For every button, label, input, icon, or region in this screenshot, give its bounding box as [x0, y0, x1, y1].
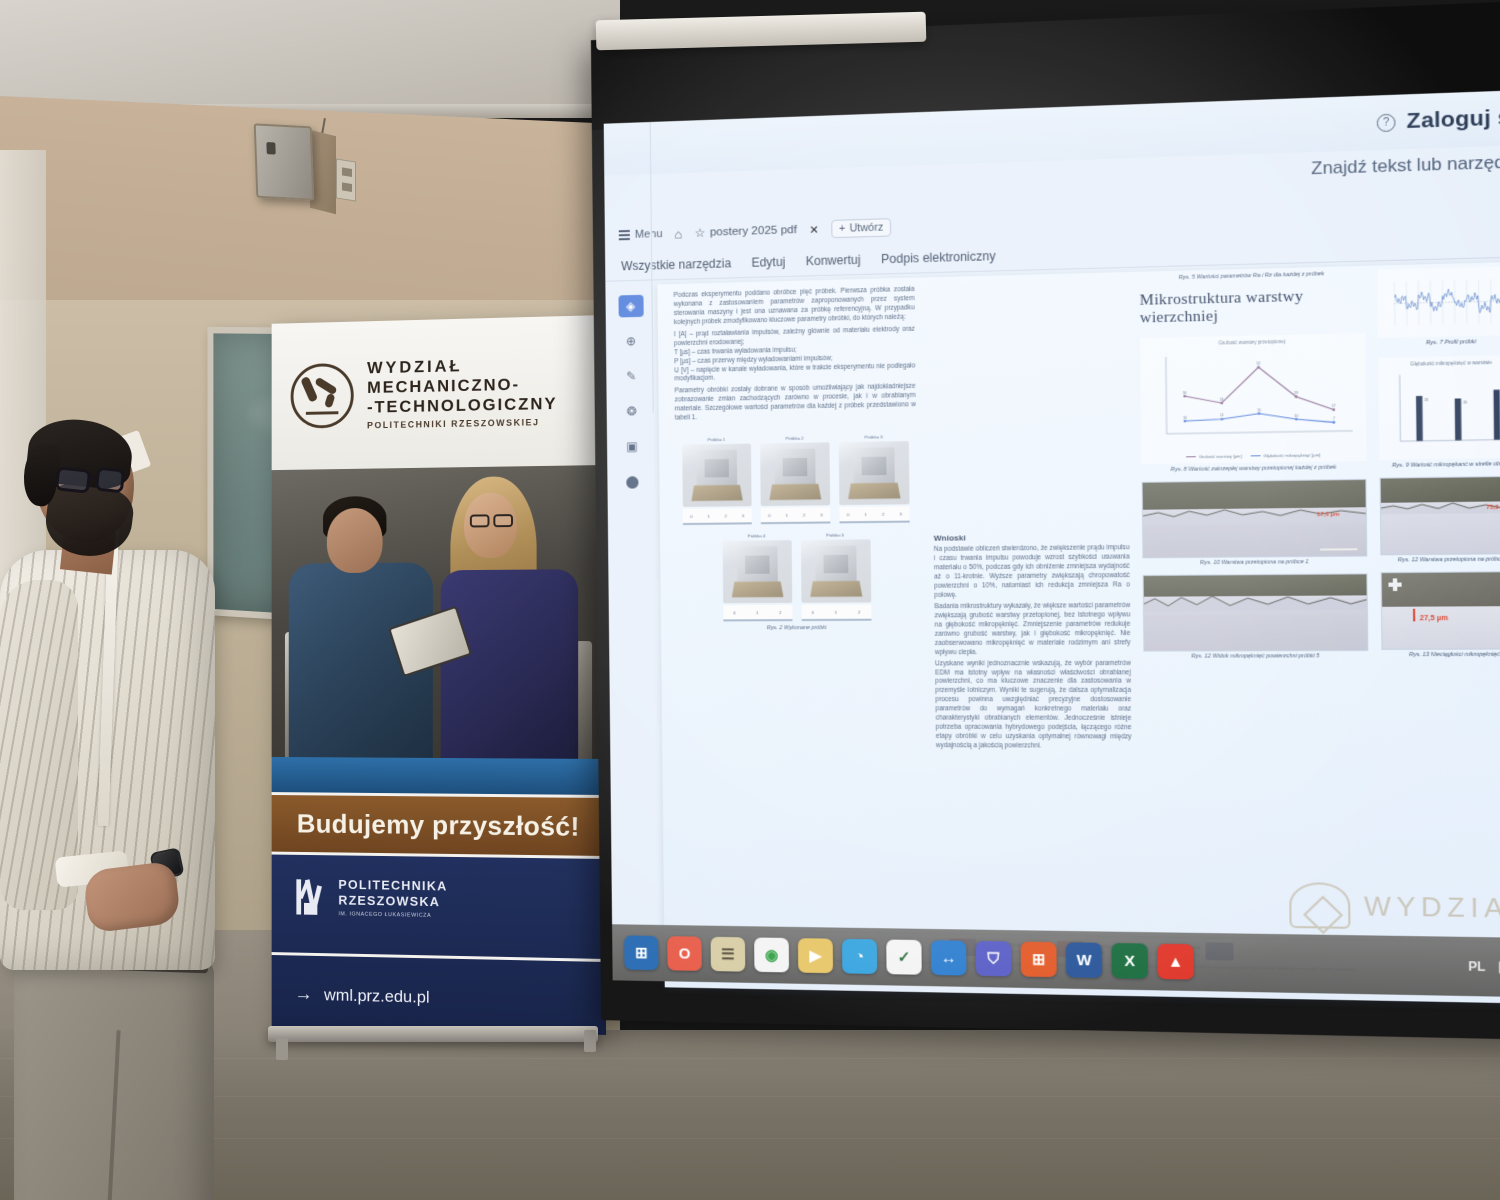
- sample-photo: [760, 442, 830, 506]
- beard: [42, 481, 136, 561]
- measurement-label: 27,5 µm: [1420, 615, 1449, 623]
- sample-item: Próbka 2 0123: [760, 435, 830, 524]
- help-circle-icon[interactable]: ?: [1377, 113, 1396, 132]
- svg-text:11: 11: [1220, 414, 1224, 418]
- faculty-watermark: WYDZIAŁ: [1289, 882, 1500, 931]
- sample-ruler: 012: [801, 605, 871, 622]
- svg-text:10: 10: [1183, 415, 1187, 419]
- conclusion-3: Uzyskane wyniki jednoznacznie wskazują, …: [935, 659, 1132, 751]
- chart-profile: [1377, 266, 1500, 338]
- banner-title-line3: -TECHNOLOGICZNY: [367, 394, 557, 417]
- sample-photo: [722, 540, 792, 603]
- banner-base-pole: [268, 1026, 598, 1042]
- notes-icon[interactable]: ☰: [711, 937, 746, 972]
- poster-intro-2: Parametry obróbki zostały dobrane w spos…: [675, 383, 916, 424]
- language-indicator[interactable]: PL: [1468, 959, 1485, 974]
- chrome-icon[interactable]: ◉: [754, 937, 789, 972]
- tool-convert[interactable]: Konwertuj: [806, 252, 861, 268]
- svg-text:24: 24: [1220, 397, 1224, 401]
- document-tab[interactable]: ☆ postery 2025 pdf: [694, 223, 797, 240]
- svg-text:28: 28: [1294, 391, 1298, 395]
- chart-microcracks: Głębokość mikropęknięć w warstwie 282631: [1378, 355, 1500, 460]
- legend-label: Grubość warstwy [µm]: [1199, 453, 1242, 459]
- hamburger-icon: [619, 230, 630, 239]
- create-label: Utwórz: [849, 221, 883, 234]
- figure-caption-melt: Rys. 8 Wartość zakrzepłej warstwy przeto…: [1141, 464, 1366, 473]
- opera-icon[interactable]: O: [667, 936, 702, 971]
- micrograph-4: 27,5 µm: [1381, 571, 1500, 650]
- office-icon[interactable]: ⊞: [1021, 942, 1057, 978]
- sample-photo: [800, 539, 870, 602]
- prz-logo: POLITECHNIKA RZESZOWSKA IM. IGNACEGO ŁUK…: [294, 876, 582, 922]
- photo-man-head: [327, 508, 383, 573]
- edge-icon[interactable]: ◔: [842, 939, 877, 974]
- figure-caption-micro-4: Rys. 13 Nieciągłości mikropęknięć: [1382, 652, 1500, 659]
- prz-mark-icon: [294, 877, 326, 917]
- robot-arm-icon: [291, 363, 354, 429]
- teams-icon[interactable]: ⛉: [976, 941, 1012, 976]
- comment-icon[interactable]: ❂: [619, 400, 644, 422]
- sample-photo-grid: Próbka 1 0123 Próbka 2 0123: [675, 434, 918, 622]
- sample-label: Próbka 5: [800, 532, 870, 538]
- micrograph-2: 75,9 µm: [1380, 476, 1500, 556]
- banner-title-line4: POLITECHNIKI RZESZOWSKIEJ: [367, 417, 557, 431]
- chart-legend: Grubość warstwy [µm] Głębokość mikropękn…: [1146, 452, 1362, 460]
- banner-photo: [272, 465, 606, 795]
- teamviewer-icon[interactable]: ↔: [931, 940, 967, 975]
- zoom-icon[interactable]: ⊕: [618, 330, 643, 353]
- banner-cta: Budujemy przyszłość!: [272, 792, 606, 859]
- conclusion-2: Badania mikrostruktury wykazały, że więk…: [934, 602, 1130, 658]
- tool-all-tools[interactable]: Wszystkie narzędzia: [621, 256, 731, 273]
- sample-ruler: 012: [723, 605, 792, 622]
- watermark-text: WYDZIAŁ: [1364, 890, 1500, 925]
- create-button[interactable]: + Utwórz: [831, 218, 892, 238]
- acrobat-sidebar: ◈ ⊕ ✎ ❂ ▣ ⬤: [613, 289, 650, 570]
- sample-item: Próbka 4 012: [722, 533, 792, 621]
- tab-title: postery 2025 pdf: [710, 224, 797, 239]
- chart-svg-line: 3024522817101115107: [1144, 345, 1361, 453]
- login-button[interactable]: Zaloguj się: [1406, 105, 1500, 135]
- rollup-banner: WYDZIAŁ MECHANICZNO- -TECHNOLOGICZNY POL…: [272, 315, 606, 1035]
- svg-text:7: 7: [1333, 417, 1335, 421]
- lecture-room-scene: WYDZIAŁ MECHANICZNO- -TECHNOLOGICZNY POL…: [0, 0, 1500, 1200]
- text-box-icon[interactable]: ▣: [619, 435, 644, 457]
- legend-item: Grubość warstwy [µm]: [1186, 453, 1242, 459]
- star-icon[interactable]: ☆: [694, 226, 705, 240]
- faculty-mark-icon: [1289, 882, 1351, 929]
- photo-workbench: [272, 757, 606, 795]
- tool-esign[interactable]: Podpis elektroniczny: [881, 248, 996, 265]
- sample-ruler: 0123: [761, 507, 831, 524]
- crosshair-cursor-icon: [1388, 579, 1401, 592]
- power-outlet-icon: [336, 158, 356, 201]
- banner-url-text: wml.prz.edu.pl: [324, 985, 430, 1007]
- chart-title: Głębokość mikropęknięć w warstwie: [1383, 359, 1500, 367]
- media-player-icon[interactable]: ▶: [798, 938, 833, 973]
- sample-label: Próbka 1: [682, 437, 751, 443]
- projected-desktop: ? Zaloguj się Znajdź tekst lub narzędzia…: [604, 89, 1500, 997]
- banner-footer: POLITECHNIKA RZESZOWSKA IM. IGNACEGO ŁUK…: [272, 855, 606, 1035]
- photo-woman-glasses: [493, 514, 513, 527]
- prz-line2: RZESZOWSKA: [338, 893, 447, 911]
- poster-intro: Podczas eksperymentu poddano obróbce pię…: [674, 286, 915, 328]
- figure-caption-micro-2: Rys. 12 Warstwa przetopiona na próbce 5: [1380, 556, 1500, 564]
- measurement-label: 17,6 µm: [1317, 512, 1340, 519]
- svg-text:10: 10: [1294, 413, 1298, 417]
- search-input[interactable]: Znajdź tekst lub narzędzia: [1311, 151, 1500, 179]
- sample-label: Próbka 2: [760, 435, 829, 441]
- tasks-icon[interactable]: ✓: [886, 940, 922, 975]
- plus-icon: +: [839, 223, 845, 235]
- svg-text:15: 15: [1257, 408, 1261, 412]
- excel-icon[interactable]: X: [1111, 943, 1148, 979]
- close-tab-icon[interactable]: ✕: [809, 223, 819, 236]
- sample-item: Próbka 3 0123: [839, 434, 910, 523]
- select-tool-icon[interactable]: ◈: [618, 295, 643, 318]
- sample-photo: [839, 441, 910, 505]
- svg-text:52: 52: [1257, 362, 1261, 366]
- system-tray: PL ◖: [1468, 959, 1500, 975]
- arrow-right-icon: →: [294, 984, 312, 1006]
- micrograph-1: 17,6 µm: [1142, 479, 1368, 559]
- sample-item: Próbka 5 012: [800, 532, 871, 621]
- home-icon[interactable]: ⌂: [674, 226, 682, 241]
- figure-caption-micro-1: Rys. 10 Warstwa przetopiona na próbce 1: [1142, 559, 1367, 567]
- pen-icon[interactable]: ✎: [619, 365, 644, 388]
- svg-text:30: 30: [1183, 391, 1187, 395]
- glasses-left-lens: [55, 466, 91, 493]
- figure-caption-samples: Rys. 2 Wykonane próbki: [677, 625, 918, 632]
- chart-svg-profile: [1382, 270, 1500, 334]
- sample-photo: [682, 444, 751, 507]
- legend-item: Głębokość mikropęknięć [µm]: [1250, 452, 1320, 458]
- stamp-icon[interactable]: ⬤: [620, 470, 645, 492]
- banner-title: WYDZIAŁ MECHANICZNO- -TECHNOLOGICZNY POL…: [367, 354, 557, 431]
- word-icon[interactable]: W: [1066, 942, 1102, 978]
- svg-text:28: 28: [1424, 398, 1428, 402]
- menu-label: Menu: [635, 228, 663, 241]
- projection-screen: ? Zaloguj się Znajdź tekst lub narzędzia…: [591, 0, 1500, 1040]
- banner-foot: [584, 1030, 596, 1052]
- prz-line3: IM. IGNACEGO ŁUKASIEWICZA: [338, 912, 447, 921]
- legend-label: Głębokość mikropęknięć [µm]: [1263, 452, 1320, 458]
- figure-caption-ra: Rys. 5 Wartości parametrów Ra i Rz dla k…: [1139, 270, 1364, 282]
- conclusions-heading: Wnioski: [934, 531, 1130, 545]
- prz-line1: POLITECHNIKA: [338, 877, 447, 895]
- banner-url: → wml.prz.edu.pl: [294, 984, 429, 1009]
- menu-button[interactable]: Menu: [619, 228, 663, 241]
- figure-caption-profile: Rys. 7 Profil próbki: [1378, 338, 1500, 347]
- banner-cta-text: Budujemy przyszłość!: [297, 808, 580, 842]
- chart-svg-bar: 282631: [1383, 367, 1500, 456]
- banner-header: WYDZIAŁ MECHANICZNO- -TECHNOLOGICZNY POL…: [272, 315, 606, 470]
- prz-text: POLITECHNIKA RZESZOWSKA IM. IGNACEGO ŁUK…: [338, 877, 447, 920]
- measurement-label: 75,9 µm: [1486, 505, 1500, 512]
- sample-item: Próbka 1 0123: [682, 437, 752, 526]
- banner-divider: [272, 952, 606, 962]
- wall-speaker-icon: [254, 123, 315, 200]
- sample-ruler: 0123: [683, 508, 752, 525]
- figure-caption-microcracks: Rys. 9 Wartość mikropękanć w strefie obr…: [1379, 461, 1500, 469]
- micrograph-3: [1143, 573, 1369, 651]
- acrobat-icon[interactable]: ▲: [1157, 944, 1194, 980]
- section-heading-microstructure: Mikrostruktura warstwy wierzchniej: [1140, 287, 1365, 328]
- banner-foot: [276, 1038, 288, 1060]
- sample-label: Próbka 3: [839, 434, 909, 440]
- windows-start-icon[interactable]: ⊞: [624, 935, 658, 970]
- photo-woman-body: [441, 569, 579, 775]
- conclusion-1: Na podstawie obliczeń stwierdzono, że zw…: [934, 544, 1130, 601]
- tool-edit[interactable]: Edytuj: [751, 254, 785, 269]
- poster-bullet-4: U [V] – napięcie w kanale wyładowania, k…: [674, 362, 915, 385]
- speaker-side-panel: [310, 130, 336, 214]
- photo-woman-glasses: [470, 514, 490, 527]
- sample-ruler: 0123: [839, 506, 909, 523]
- chart-melt-layer: Grubość warstwy przetopionej 30245228171…: [1140, 333, 1366, 464]
- svg-text:17: 17: [1332, 404, 1336, 408]
- presenter: [0, 430, 240, 1150]
- svg-text:26: 26: [1463, 400, 1467, 404]
- figure-caption-micro-3: Rys. 12 Widok mikropęknięć powierzchni p…: [1143, 653, 1368, 660]
- glasses-right-lens: [95, 467, 125, 494]
- sample-label: Próbka 4: [722, 533, 791, 539]
